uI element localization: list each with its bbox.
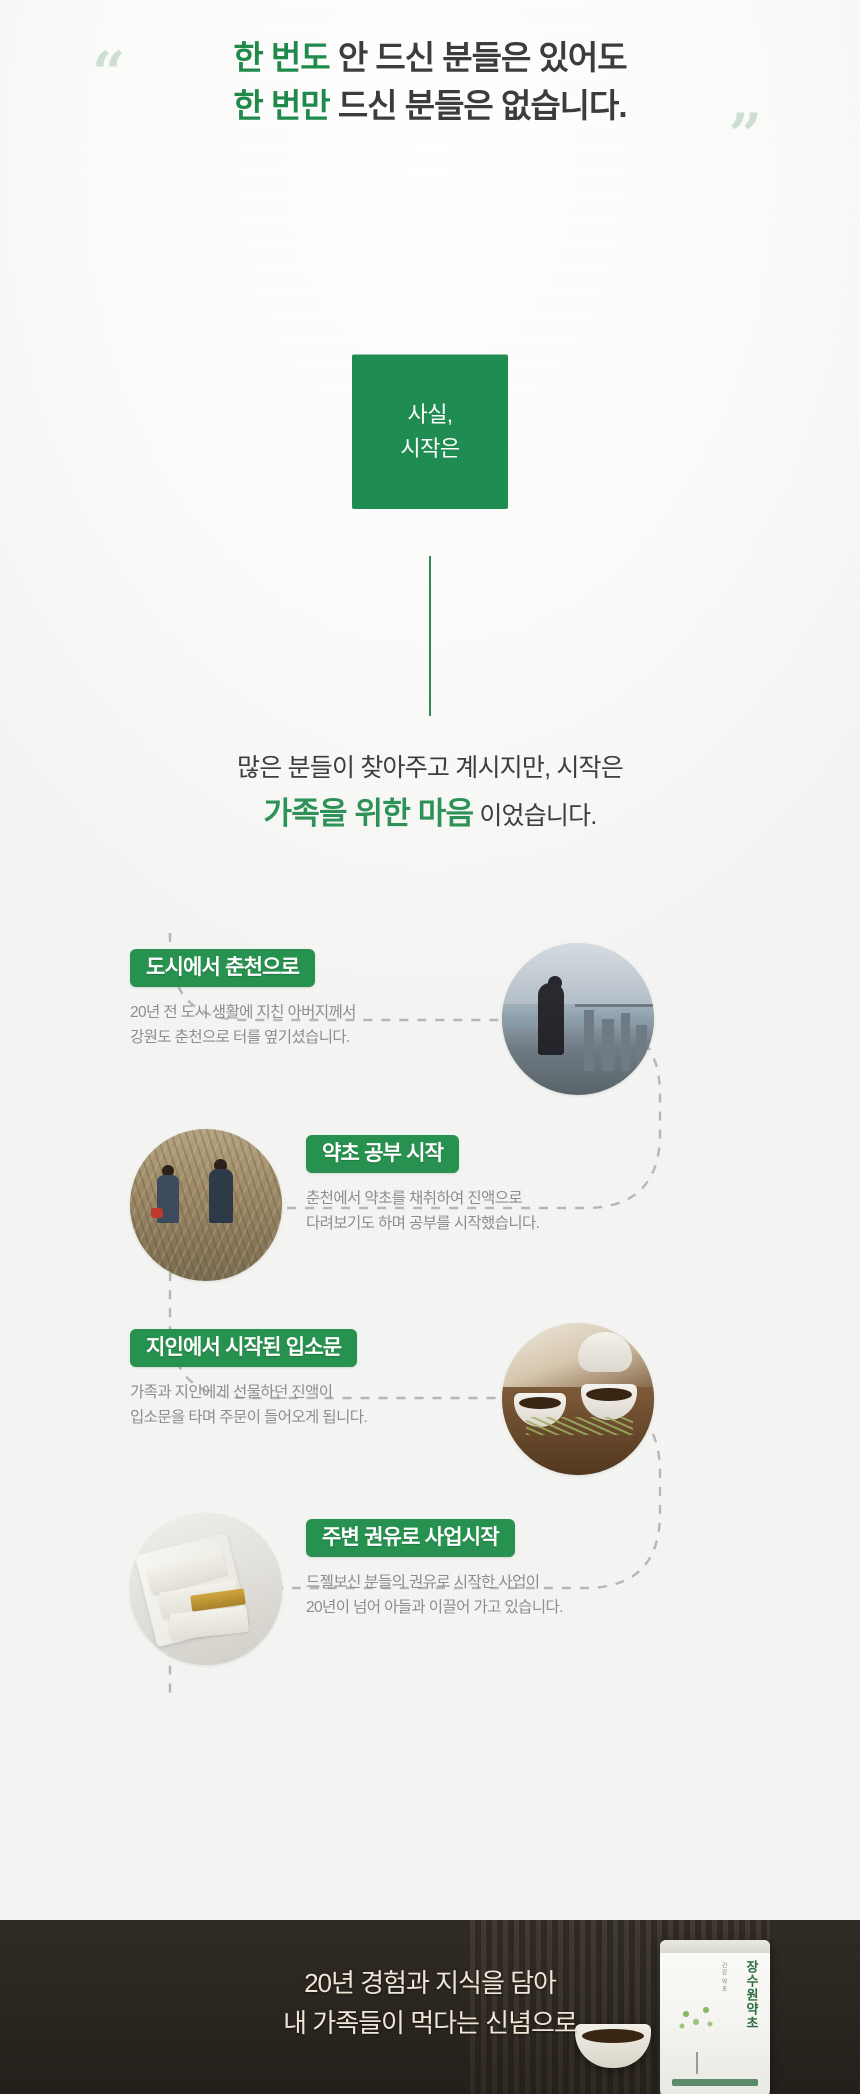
hero-line-2-rest: 드신 분들은 없습니다. [330, 87, 627, 124]
subheadline-line-2: 가족을 위한 마음 이었습니다. [0, 788, 860, 841]
subheadline-section: 많은 분들이 찾아주고 계시지만, 시작은 가족을 위한 마음 이었습니다. [0, 748, 860, 841]
banner-text-block: 20년 경험과 지식을 담아 내 가족들이 먹다는 신념으로 [0, 1964, 860, 2043]
hero-line-1: 한 번도 안 드신 분들은 있어도 [0, 34, 860, 82]
vertical-connector-line [429, 556, 431, 716]
timeline-card-text: 지인에서 시작된 입소문 가족과 지인에게 선물하던 진액이 입소문을 타며 주… [130, 1329, 367, 1430]
pouch-footer-band [672, 2079, 758, 2086]
product-sticks-photo [130, 1513, 282, 1665]
fact-badge-line-1: 사실, [407, 404, 452, 426]
fact-badge-line-2: 시작은 [400, 438, 459, 460]
subheadline-tail: 이었습니다. [473, 802, 596, 830]
timeline-card-chip: 도시에서 춘천으로 [130, 949, 315, 987]
subheadline-line-1: 많은 분들이 찾아주고 계시지만, 시작은 [0, 748, 860, 788]
timeline-section: 도시에서 춘천으로 20년 전 도시 생활에 지친 아버지께서 강원도 춘천으로… [0, 925, 860, 1815]
quote-open-icon: “ [92, 44, 125, 102]
timeline-card-body: 20년 전 도시 생활에 지친 아버지께서 강원도 춘천으로 터를 옆기셨습니다… [130, 1000, 356, 1050]
banner-line-1: 20년 경험과 지식을 담아 [0, 1964, 860, 2004]
timeline-card: 약초 공부 시작 춘천에서 약초를 채취하여 진액으로 다려보기도 하며 공부를… [130, 1121, 730, 1291]
timeline-card-text: 주변 권유로 사업시작 드졜보신 분들의 권유로 시작한 사업이 20년이 넘어… [306, 1519, 563, 1620]
timeline-card: 지인에서 시작된 입소문 가족과 지인에게 선물하던 진액이 입소문을 타며 주… [130, 1315, 730, 1485]
hero-quote-section: “ ” 한 번도 안 드신 분들은 있어도 한 번만 드신 분들은 없습니다. [0, 34, 860, 130]
hero-line-1-rest: 안 드신 분들은 있어도 [330, 39, 627, 76]
hero-line-1-accent: 한 번도 [233, 39, 329, 76]
timeline-card-text: 도시에서 춘천으로 20년 전 도시 생활에 지친 아버지께서 강원도 춘천으로… [130, 949, 356, 1050]
timeline-card-text: 약초 공부 시작 춘천에서 약초를 채취하여 진액으로 다려보기도 하며 공부를… [306, 1135, 539, 1236]
quote-close-icon: ” [729, 106, 762, 164]
timeline-card-body: 가족과 지인에게 선물하던 진액이 입소문을 타며 주문이 들어오게 됩니다. [130, 1380, 367, 1430]
timeline-card-chip: 약초 공부 시작 [306, 1135, 459, 1173]
herb-harvest-photo [130, 1129, 282, 1281]
banner-line-2: 내 가족들이 먹다는 신념으로 [0, 2004, 860, 2044]
timeline-card-chip: 지인에서 시작된 입소문 [130, 1329, 357, 1367]
timeline-card-chip: 주변 권유로 사업시작 [306, 1519, 515, 1557]
tea-bowls-photo [502, 1323, 654, 1475]
pouch-tree-trunk [696, 2052, 698, 2074]
timeline-card-body: 춘천에서 약초를 채취하여 진액으로 다려보기도 하며 공부를 시작했습니다. [306, 1186, 539, 1236]
timeline-card: 주변 권유로 사업시작 드졜보신 분들의 권유로 시작한 사업이 20년이 넘어… [130, 1505, 730, 1675]
timeline-card: 도시에서 춘천으로 20년 전 도시 생활에 지친 아버지께서 강원도 춘천으로… [130, 935, 730, 1105]
city-skyline-photo [502, 943, 654, 1095]
subheadline-accent: 가족을 위한 마음 [264, 796, 474, 831]
fact-badge: 사실, 시작은 [352, 354, 508, 509]
pouch-seal [660, 1940, 770, 1953]
bottom-banner: 장수원약초 건강 약초 20년 경험과 지식을 담아 내 가족들이 먹다는 신념… [0, 1920, 860, 2094]
hero-line-2-accent: 한 번만 [233, 87, 329, 124]
timeline-card-body: 드졜보신 분들의 권유로 시작한 사업이 20년이 넘어 아들과 이끌어 가고 … [306, 1570, 563, 1620]
